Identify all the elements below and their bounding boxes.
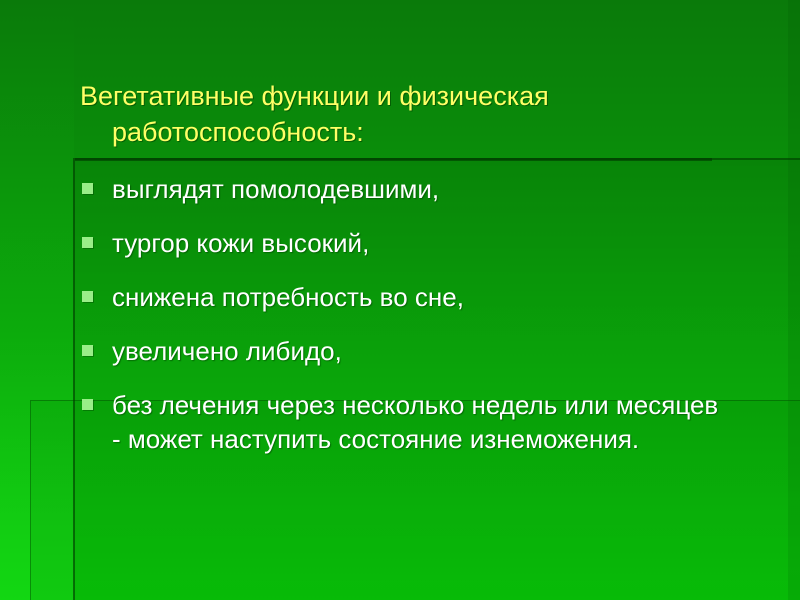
bullet-list: выглядят помолодевшими, тургор кожи высо… xyxy=(82,172,742,476)
background-right-edge xyxy=(788,0,800,600)
bullet-text: выглядят помолодевшими, xyxy=(112,172,439,206)
slide-title-line-2: работоспособность: xyxy=(80,114,740,150)
list-item: увеличено либидо, xyxy=(82,334,742,368)
slide-title-line-1: Вегетативные функции и физическая xyxy=(80,78,740,114)
bullet-text: снижена потребность во сне, xyxy=(112,280,464,314)
list-item: без лечения через несколько недель или м… xyxy=(82,388,742,456)
slide-canvas: Вегетативные функции и физическая работо… xyxy=(0,0,800,600)
list-item: тургор кожи высокий, xyxy=(82,226,742,260)
list-item: выглядят помолодевшими, xyxy=(82,172,742,206)
bullet-text: тургор кожи высокий, xyxy=(112,226,369,260)
list-item: снижена потребность во сне, xyxy=(82,280,742,314)
square-bullet-icon xyxy=(82,399,93,410)
slide-title: Вегетативные функции и физическая работо… xyxy=(80,78,740,150)
square-bullet-icon xyxy=(82,237,93,248)
bullet-text: увеличено либидо, xyxy=(112,334,342,368)
square-bullet-icon xyxy=(82,183,93,194)
bullet-text: без лечения через несколько недель или м… xyxy=(112,388,734,456)
square-bullet-icon xyxy=(82,291,93,302)
panel-top-rule xyxy=(75,158,712,161)
background-left-band xyxy=(0,0,74,600)
square-bullet-icon xyxy=(82,345,93,356)
